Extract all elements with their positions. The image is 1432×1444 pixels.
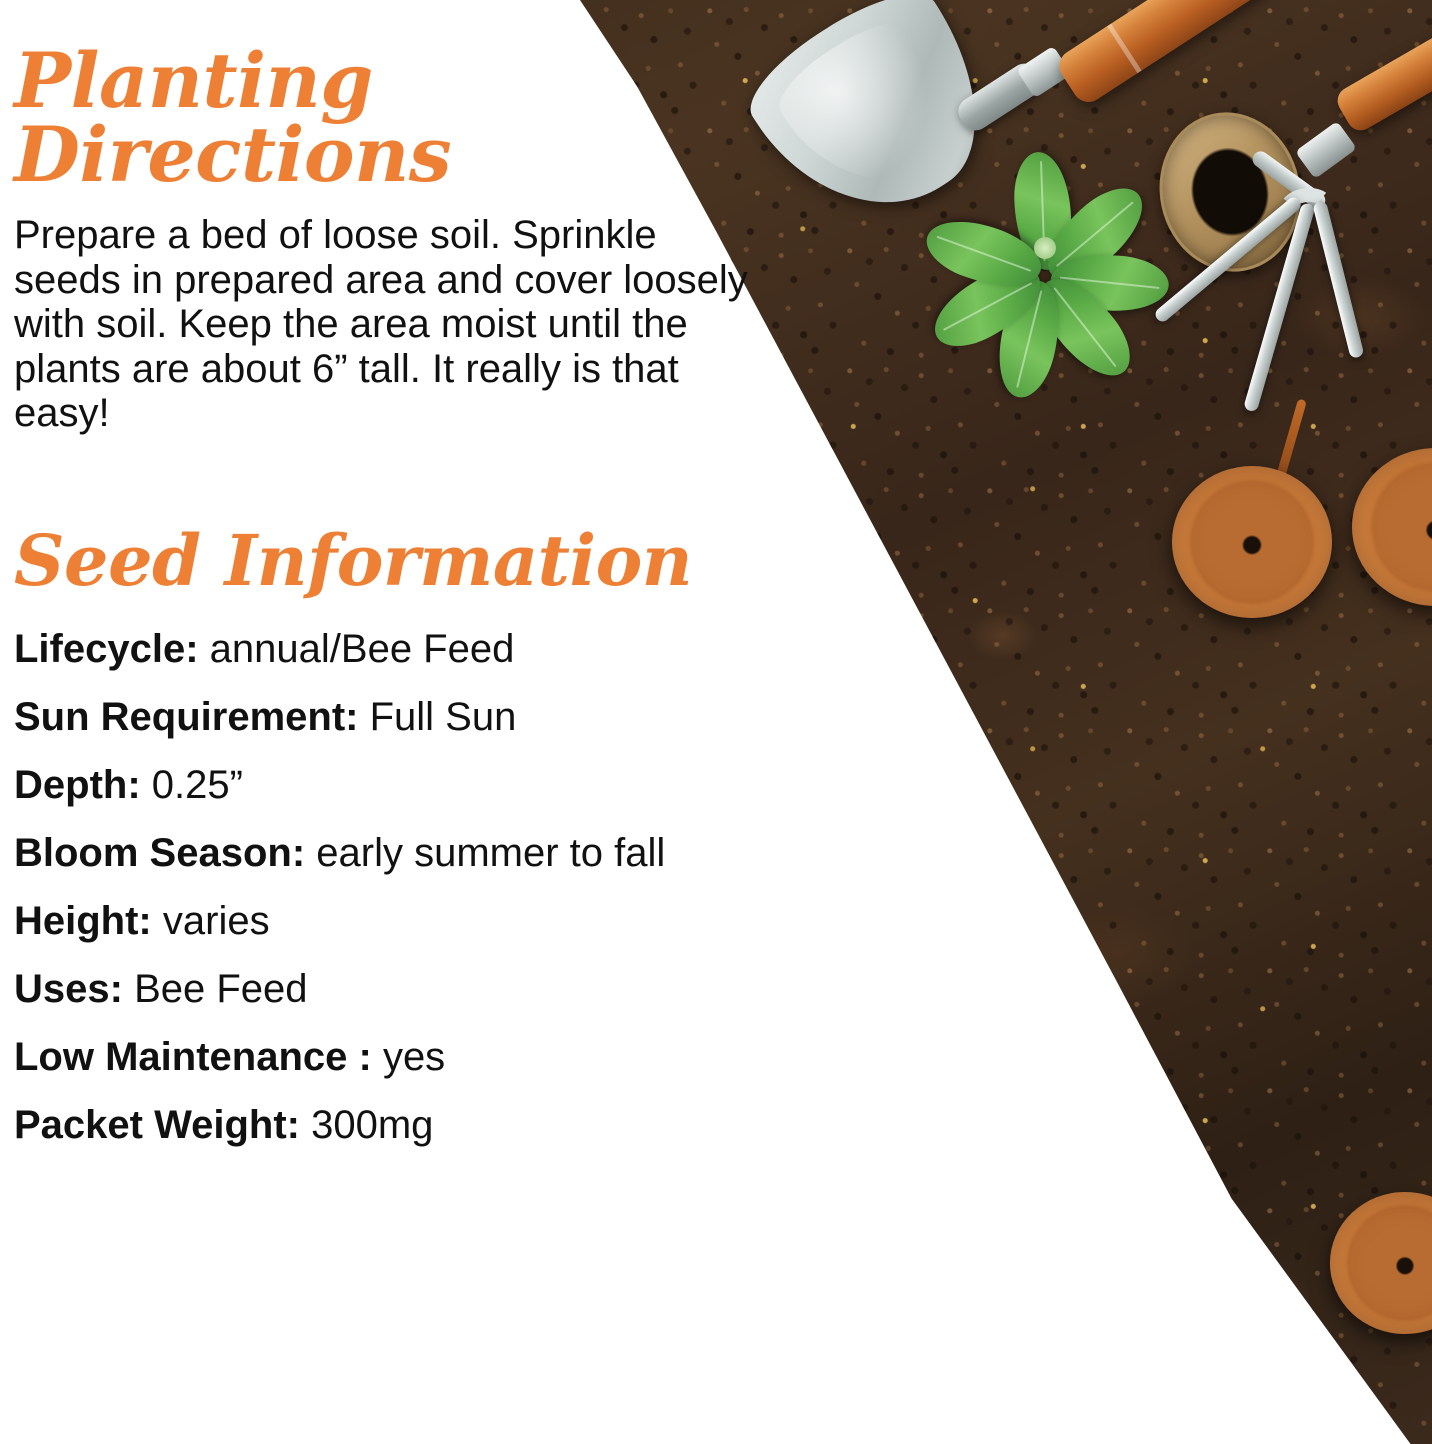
seed-information-heading: Seed Information	[14, 527, 884, 595]
seed-info-row: Height: varies	[14, 887, 884, 955]
text-column: Planting Directions Prepare a bed of loo…	[14, 0, 884, 1159]
planting-directions-body: Prepare a bed of loose soil. Sprinkle se…	[14, 213, 774, 435]
seed-info-row: Low Maintenance : yes	[14, 1023, 884, 1091]
seed-info-row: Packet Weight: 300mg	[14, 1091, 884, 1159]
seed-information-list: Lifecycle: annual/Bee Feed Sun Requireme…	[14, 615, 884, 1159]
seed-info-label: Depth:	[14, 763, 141, 807]
seed-info-value: annual/Bee Feed	[210, 627, 515, 671]
seed-info-label: Height:	[14, 899, 152, 943]
seed-info-value: early summer to fall	[316, 831, 665, 875]
seed-info-value: varies	[163, 899, 270, 943]
seed-info-label: Uses:	[14, 967, 123, 1011]
seed-info-value: 0.25”	[152, 763, 243, 807]
seed-info-label: Sun Requirement:	[14, 695, 358, 739]
seedling-crown	[1034, 237, 1056, 259]
seed-info-label: Packet Weight:	[14, 1103, 300, 1147]
seed-info-label: Bloom Season:	[14, 831, 305, 875]
seed-info-label: Low Maintenance :	[14, 1035, 372, 1079]
seed-info-value: Bee Feed	[134, 967, 307, 1011]
seed-info-row: Depth: 0.25”	[14, 751, 884, 819]
seed-info-label: Lifecycle:	[14, 627, 199, 671]
terracotta-pot	[1172, 466, 1332, 618]
seed-info-row: Uses: Bee Feed	[14, 955, 884, 1023]
seed-info-value: yes	[383, 1035, 445, 1079]
seed-info-row: Bloom Season: early summer to fall	[14, 819, 884, 887]
seed-info-value: Full Sun	[370, 695, 517, 739]
seed-info-row: Lifecycle: annual/Bee Feed	[14, 615, 884, 683]
seed-info-value: 300mg	[311, 1103, 433, 1147]
seed-packet-info-page: Planting Directions Prepare a bed of loo…	[0, 0, 1432, 1444]
seed-info-row: Sun Requirement: Full Sun	[14, 683, 884, 751]
planting-directions-heading: Planting Directions	[14, 44, 534, 191]
